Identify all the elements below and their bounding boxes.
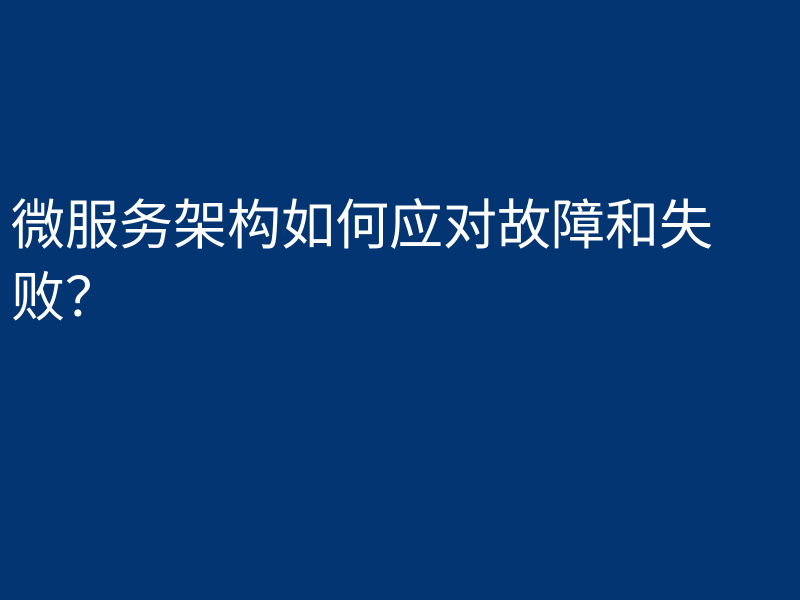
title-block: 微服务架构如何应对故障和失败？ [0,190,800,334]
page-title: 微服务架构如何应对故障和失败？ [11,190,792,334]
slide-canvas: 微服务架构如何应对故障和失败？ [0,0,800,600]
